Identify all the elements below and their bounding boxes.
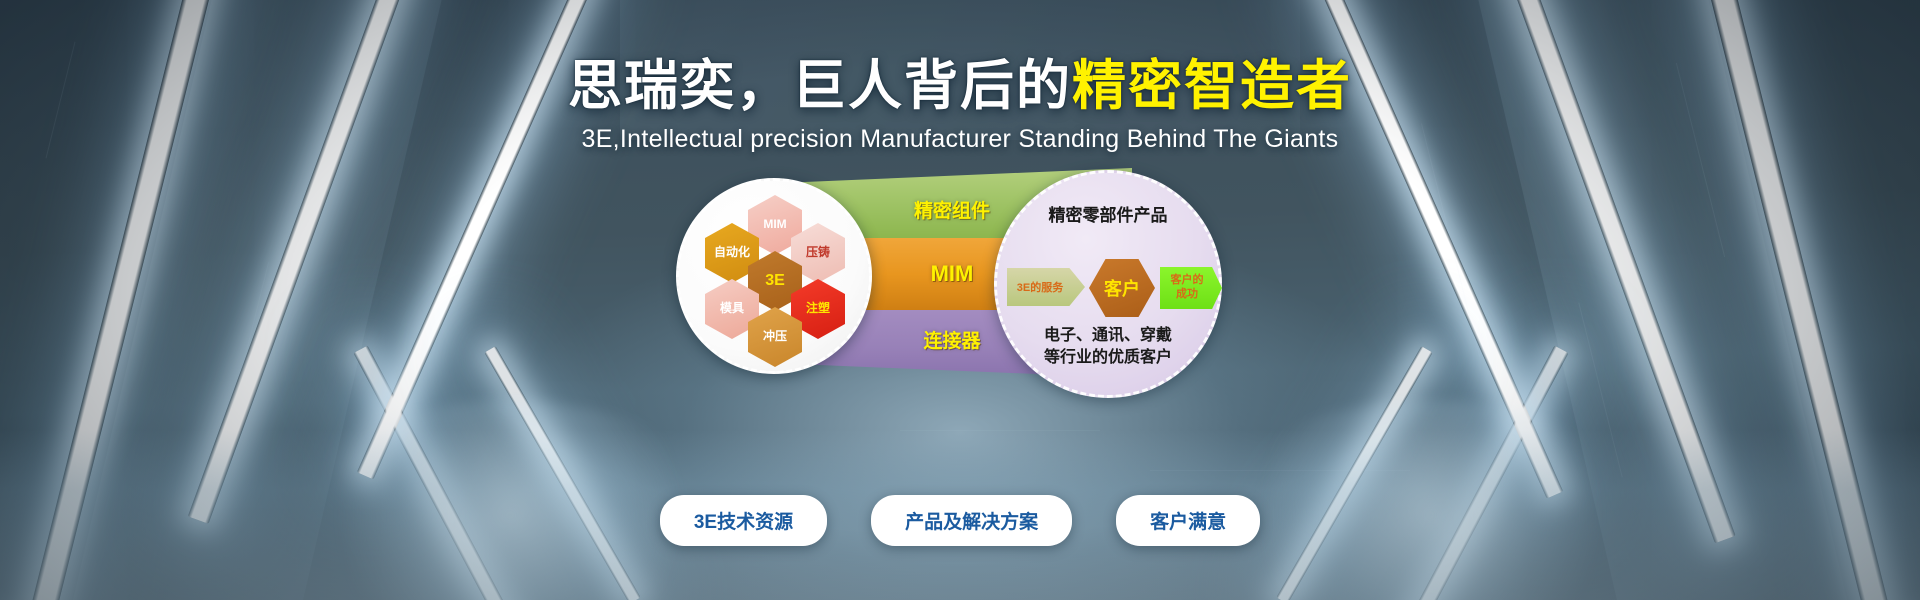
hex-mold-label: 模具: [720, 302, 744, 315]
band-mim-label: MIM: [931, 261, 974, 287]
hex-automation-label: 自动化: [714, 246, 750, 259]
page-title: 思瑞奕，巨人背后的精密智造者: [0, 58, 1920, 115]
capability-circle: MIM 自动化 压铸 3E 模具 注塑 冲压: [676, 178, 872, 374]
success-arrow-line1: 客户的: [1171, 274, 1204, 286]
service-arrow-label: 3E的服务: [1017, 279, 1075, 295]
hex-customer[interactable]: 客户: [1089, 259, 1155, 317]
hex-die-casting-label: 压铸: [806, 246, 830, 259]
customer-circle-title: 精密零部件产品: [997, 201, 1219, 226]
cta-button-group: 3E技术资源 产品及解决方案 客户满意: [0, 495, 1920, 546]
hex-3e-label: 3E: [765, 272, 785, 290]
page-subtitle: 3E,Intellectual precision Manufacturer S…: [0, 125, 1920, 154]
hex-stamping-label: 冲压: [763, 330, 787, 343]
button-tech-resources[interactable]: 3E技术资源: [660, 495, 827, 546]
success-arrow[interactable]: 客户的 成功: [1160, 267, 1222, 309]
success-arrow-label: 客户的 成功: [1171, 274, 1212, 302]
hex-injection-label: 注塑: [806, 302, 830, 315]
success-arrow-line2: 成功: [1176, 288, 1198, 300]
customer-footer-line1: 电子、通讯、穿戴: [1044, 327, 1172, 344]
customer-circle: 精密零部件产品 3E的服务 客户 客户的 成功 电子、通讯、穿戴 等行业的优质客…: [994, 170, 1222, 398]
band-precision-components-label: 精密组件: [914, 196, 990, 223]
hero-banner: 思瑞奕，巨人背后的精密智造者 3E,Intellectual precision…: [0, 0, 1920, 600]
headline-block: 思瑞奕，巨人背后的精密智造者 3E,Intellectual precision…: [0, 58, 1920, 154]
hex-mim-label: MIM: [763, 218, 786, 231]
customer-circle-footer: 电子、通讯、穿戴 等行业的优质客户: [997, 325, 1219, 368]
hex-customer-label: 客户: [1104, 275, 1140, 301]
service-arrow[interactable]: 3E的服务: [1007, 268, 1085, 306]
customer-flow-row: 3E的服务 客户 客户的 成功: [997, 259, 1219, 315]
business-model-diagram: 精密组件 MIM 连接器 MIM 自动化 压铸 3E 模具: [676, 168, 1236, 378]
headline-main-text: 思瑞奕，巨人背后的: [568, 56, 1072, 116]
headline-accent-text: 精密智造者: [1072, 56, 1352, 116]
band-connector-label: 连接器: [923, 326, 980, 353]
button-customer-satisfaction[interactable]: 客户满意: [1116, 495, 1260, 546]
button-products-solutions[interactable]: 产品及解决方案: [871, 495, 1072, 546]
customer-footer-line2: 等行业的优质客户: [1044, 349, 1172, 366]
